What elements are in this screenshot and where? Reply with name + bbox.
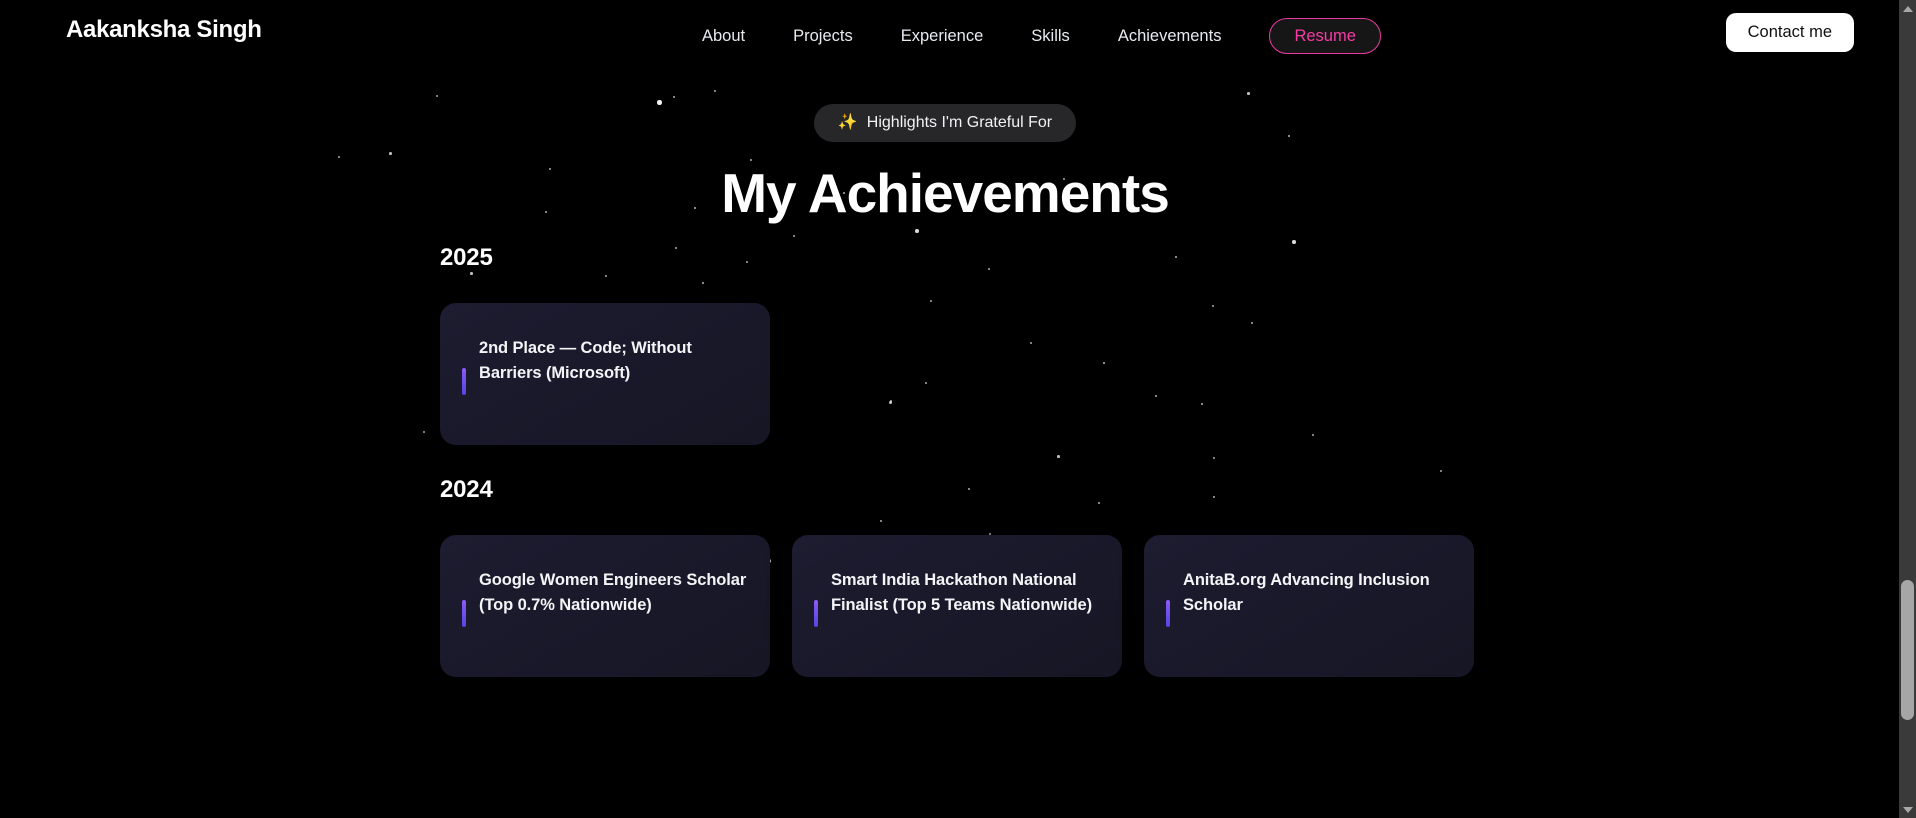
contact-me-button[interactable]: Contact me: [1726, 13, 1854, 52]
vertical-scrollbar[interactable]: [1899, 0, 1916, 818]
achievement-title: Smart India Hackathon National Finalist …: [831, 568, 1100, 618]
achievement-title: Google Women Engineers Scholar (Top 0.7%…: [479, 568, 748, 618]
year-label: 2024: [440, 476, 1476, 504]
highlights-badge-label: Highlights I'm Grateful For: [867, 114, 1052, 132]
achievement-card[interactable]: 2nd Place — Code; Without Barriers (Micr…: [440, 303, 770, 445]
brand-logo[interactable]: Aakanksha Singh: [66, 16, 262, 44]
star-particle: [436, 95, 438, 97]
achievement-card[interactable]: AnitaB.org Advancing Inclusion Scholar: [1144, 535, 1474, 677]
accent-bar-icon: [462, 600, 466, 627]
star-particle: [673, 96, 675, 98]
nav-link-skills[interactable]: Skills: [1007, 22, 1094, 50]
star-particle: [714, 90, 716, 92]
nav-link-achievements[interactable]: Achievements: [1094, 22, 1246, 50]
nav-link-about[interactable]: About: [702, 22, 769, 50]
star-particle: [1247, 92, 1250, 95]
year-group-2024: 2024 Google Women Engineers Scholar (Top…: [440, 476, 1476, 677]
year-label: 2025: [440, 244, 1476, 272]
star-particle: [423, 431, 425, 433]
accent-bar-icon: [814, 600, 818, 627]
achievement-title: AnitaB.org Advancing Inclusion Scholar: [1183, 568, 1452, 618]
accent-bar-icon: [1166, 600, 1170, 627]
achievement-card[interactable]: Smart India Hackathon National Finalist …: [792, 535, 1122, 677]
scrollbar-thumb[interactable]: [1901, 580, 1914, 720]
hero-section: ✨ Highlights I'm Grateful For My Achieve…: [0, 104, 1890, 224]
achievements-timeline: 2025 2nd Place — Code; Without Barriers …: [440, 244, 1476, 708]
highlights-badge: ✨ Highlights I'm Grateful For: [814, 104, 1076, 142]
nav-links-group: About Projects Experience Skills Achieve…: [702, 18, 1381, 54]
scroll-up-arrow-icon[interactable]: [1899, 0, 1916, 17]
achievement-card[interactable]: Google Women Engineers Scholar (Top 0.7%…: [440, 535, 770, 677]
nav-link-experience[interactable]: Experience: [877, 22, 1008, 50]
page-viewport: Aakanksha Singh About Projects Experienc…: [0, 0, 1916, 818]
sparkles-icon: ✨: [838, 115, 858, 131]
scroll-down-arrow-icon[interactable]: [1899, 801, 1916, 818]
page-title: My Achievements: [0, 163, 1890, 224]
nav-link-projects[interactable]: Projects: [769, 22, 877, 50]
achievement-cards-row: 2nd Place — Code; Without Barriers (Micr…: [440, 303, 1476, 445]
achievement-cards-row: Google Women Engineers Scholar (Top 0.7%…: [440, 535, 1476, 677]
accent-bar-icon: [462, 368, 466, 395]
year-group-2025: 2025 2nd Place — Code; Without Barriers …: [440, 244, 1476, 445]
achievement-title: 2nd Place — Code; Without Barriers (Micr…: [479, 336, 748, 386]
resume-button[interactable]: Resume: [1269, 18, 1380, 54]
top-navigation-bar: Aakanksha Singh About Projects Experienc…: [0, 0, 1916, 64]
star-particle: [793, 235, 795, 237]
star-particle: [915, 229, 919, 233]
